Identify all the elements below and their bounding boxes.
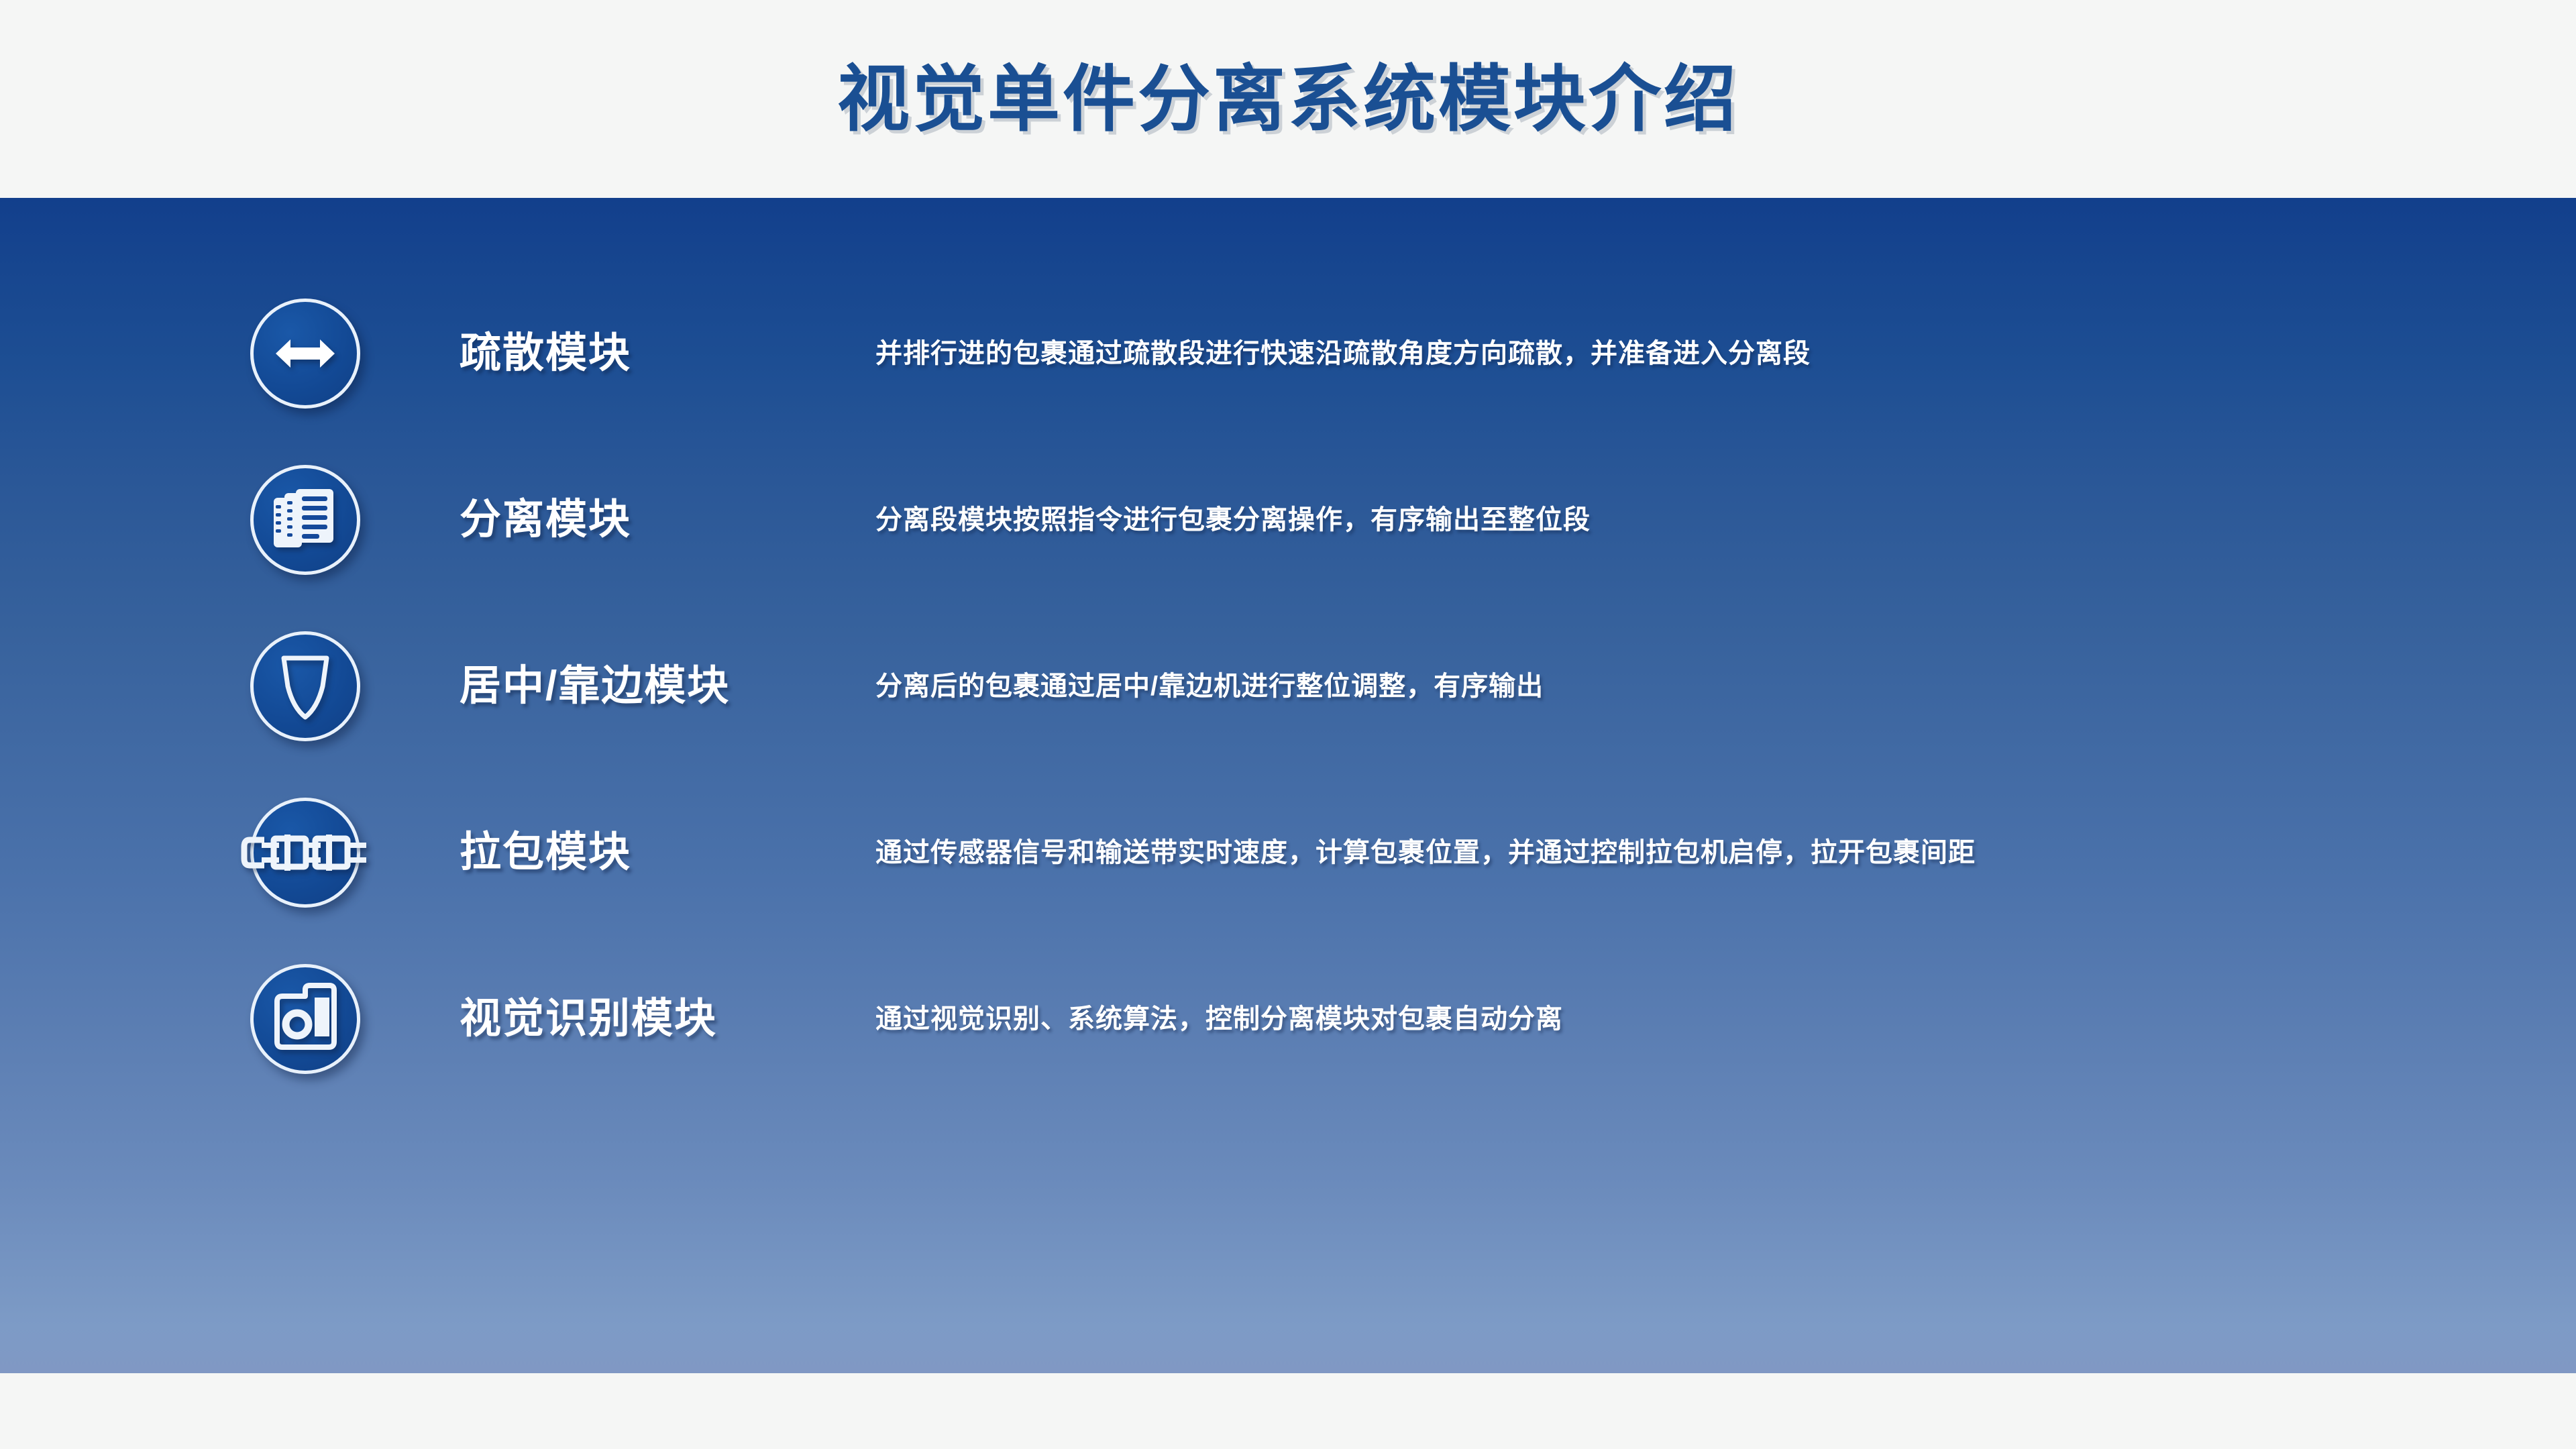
module-description: 分离段模块按照指令进行包裹分离操作，有序输出至整位段	[875, 504, 2576, 536]
module-name: 拉包模块	[460, 830, 875, 875]
module-icon-container	[238, 631, 372, 741]
module-icon-container	[238, 465, 372, 575]
icon-circle	[250, 299, 360, 409]
double-arrow-horizontal-icon	[270, 319, 340, 388]
icon-circle	[250, 798, 360, 908]
icon-circle	[250, 964, 360, 1074]
list-item[interactable]: 视觉识别模块 通过视觉识别、系统算法，控制分离模块对包裹自动分离	[0, 936, 2576, 1102]
list-item[interactable]: 疏散模块 并排行进的包裹通过疏散段进行快速沿疏散角度方向疏散，并准备进入分离段	[0, 270, 2576, 437]
shield-outline-icon	[270, 651, 340, 721]
list-item[interactable]: 拉包模块 通过传感器信号和输送带实时速度，计算包裹位置，并通过控制拉包机启停，拉…	[0, 769, 2576, 936]
module-name: 居中/靠边模块	[460, 663, 875, 709]
page-title: 视觉单件分离系统模块介绍	[837, 63, 1739, 136]
module-list: 疏散模块 并排行进的包裹通过疏散段进行快速沿疏散角度方向疏散，并准备进入分离段	[0, 198, 2576, 1102]
module-name: 疏散模块	[460, 331, 875, 376]
title-bar: 视觉单件分离系统模块介绍	[0, 0, 2576, 198]
module-description: 通过视觉识别、系统算法，控制分离模块对包裹自动分离	[875, 1003, 2576, 1035]
content-panel: 疏散模块 并排行进的包裹通过疏散段进行快速沿疏散角度方向疏散，并准备进入分离段	[0, 198, 2576, 1373]
list-item[interactable]: 居中/靠边模块 分离后的包裹通过居中/靠边机进行整位调整，有序输出	[0, 603, 2576, 769]
stacked-documents-icon	[270, 485, 340, 555]
icon-circle	[250, 465, 360, 575]
module-name: 分离模块	[460, 497, 875, 543]
module-icon-container	[238, 964, 372, 1074]
camera-vision-icon	[270, 984, 340, 1054]
module-icon-container	[238, 798, 372, 908]
module-icon-container	[238, 299, 372, 409]
module-description: 分离后的包裹通过居中/靠边机进行整位调整，有序输出	[875, 670, 2576, 702]
icon-circle	[250, 631, 360, 741]
slide-root: 视觉单件分离系统模块介绍 疏散模块 并排行进的包裹通过疏散段进行快速沿疏散角度方…	[0, 0, 2576, 1449]
module-description: 并排行进的包裹通过疏散段进行快速沿疏散角度方向疏散，并准备进入分离段	[875, 337, 2576, 370]
module-description: 通过传感器信号和输送带实时速度，计算包裹位置，并通过控制拉包机启停，拉开包裹间距	[875, 837, 2576, 869]
conveyor-chain-icon	[270, 818, 340, 888]
module-name: 视觉识别模块	[460, 996, 875, 1042]
list-item[interactable]: 分离模块 分离段模块按照指令进行包裹分离操作，有序输出至整位段	[0, 437, 2576, 603]
